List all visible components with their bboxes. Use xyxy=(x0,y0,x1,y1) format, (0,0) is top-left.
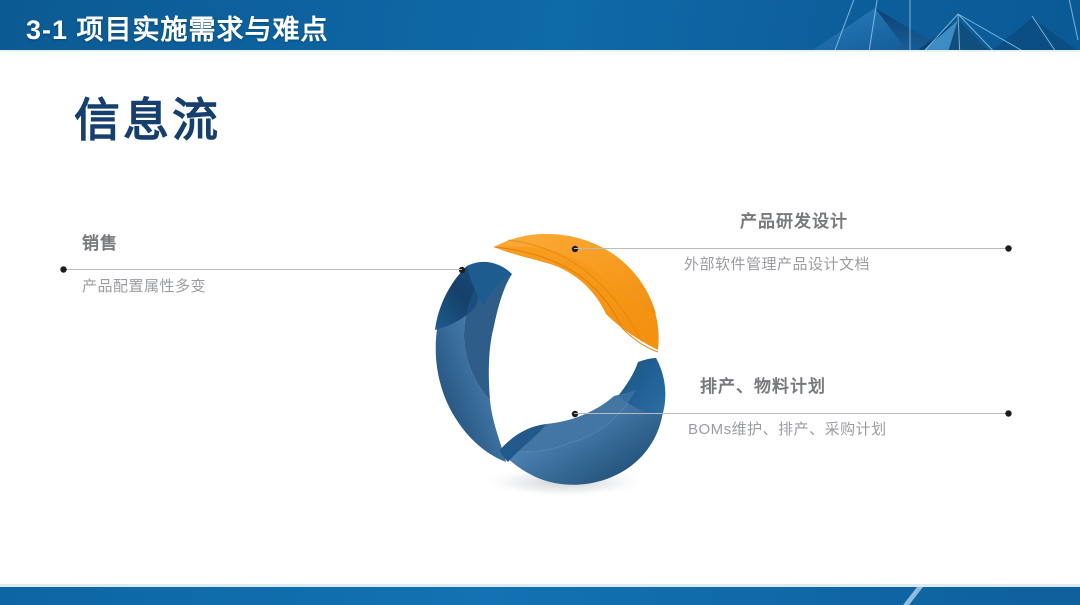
page-title: 3-1 项目实施需求与难点 xyxy=(26,8,329,47)
header-underline xyxy=(0,50,1080,52)
callout-product-rd-sub: 外部软件管理产品设计文档 xyxy=(684,256,870,274)
header-polygon-decoration xyxy=(660,0,1080,52)
slide-root: 3-1 项目实施需求与难点 信息流 xyxy=(0,0,1080,605)
leader-line-product-rd xyxy=(574,244,1012,253)
section-title: 信息流 xyxy=(74,84,221,150)
callout-sales-heading: 销售 xyxy=(82,234,118,254)
callout-product-rd-heading: 产品研发设计 xyxy=(740,212,848,232)
callout-production-plan-sub: BOMs维护、排产、采购计划 xyxy=(688,421,887,439)
callout-production-plan-heading: 排产、物料计划 xyxy=(700,377,826,397)
footer-slash-decoration xyxy=(903,587,933,605)
slide-header-bar: 3-1 项目实施需求与难点 xyxy=(0,0,1080,52)
callout-sales-sub: 产品配置属性多变 xyxy=(82,278,206,296)
leader-line-sales xyxy=(60,265,462,274)
information-flow-ring-diagram xyxy=(420,210,710,510)
leader-line-production-plan xyxy=(574,409,1012,418)
